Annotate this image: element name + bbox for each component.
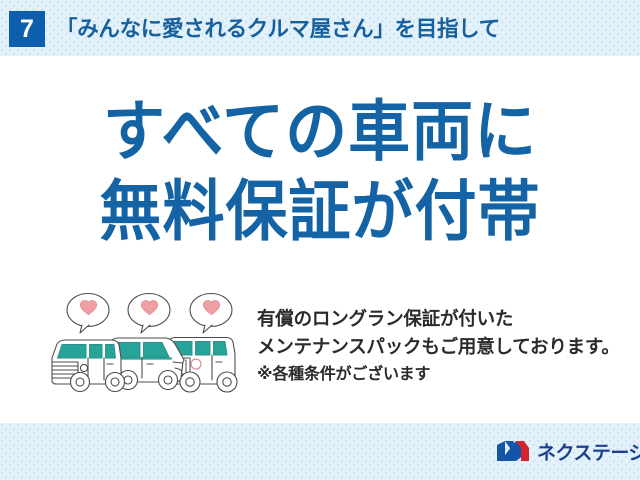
body-copy-note: ※各種条件がございます xyxy=(257,361,620,389)
speech-bubble-1 xyxy=(67,294,109,334)
body-copy-line-1: 有償のロングラン保証が付いた xyxy=(257,305,620,333)
nexstage-logo: ネクステージ xyxy=(496,438,640,464)
cars-illustration-svg xyxy=(44,292,256,400)
headline-line-1: すべての車両に xyxy=(0,100,640,166)
nexstage-logo-text: ネクステージ xyxy=(537,438,640,465)
body-copy: 有償のロングラン保証が付いた メンテナンスパックもご用意しております。 ※各種条… xyxy=(257,305,620,389)
nexstage-n-mark-icon xyxy=(496,439,530,463)
header-title: 「みんなに愛されるクルマ屋さん」を目指して xyxy=(56,13,500,45)
promo-banner: 7 「みんなに愛されるクルマ屋さん」を目指して すべての車両に 無料保証が付帯 xyxy=(0,0,640,480)
section-number-badge: 7 xyxy=(9,11,45,47)
cars-illustration xyxy=(44,292,256,400)
speech-bubble-2 xyxy=(128,294,170,334)
speech-bubble-3 xyxy=(190,294,232,334)
car-kei-wagon xyxy=(52,340,125,392)
body-copy-line-2: メンテナンスパックもご用意しております。 xyxy=(257,333,620,361)
headline: すべての車両に 無料保証が付帯 xyxy=(0,100,640,242)
headline-line-2: 無料保証が付帯 xyxy=(0,180,640,246)
